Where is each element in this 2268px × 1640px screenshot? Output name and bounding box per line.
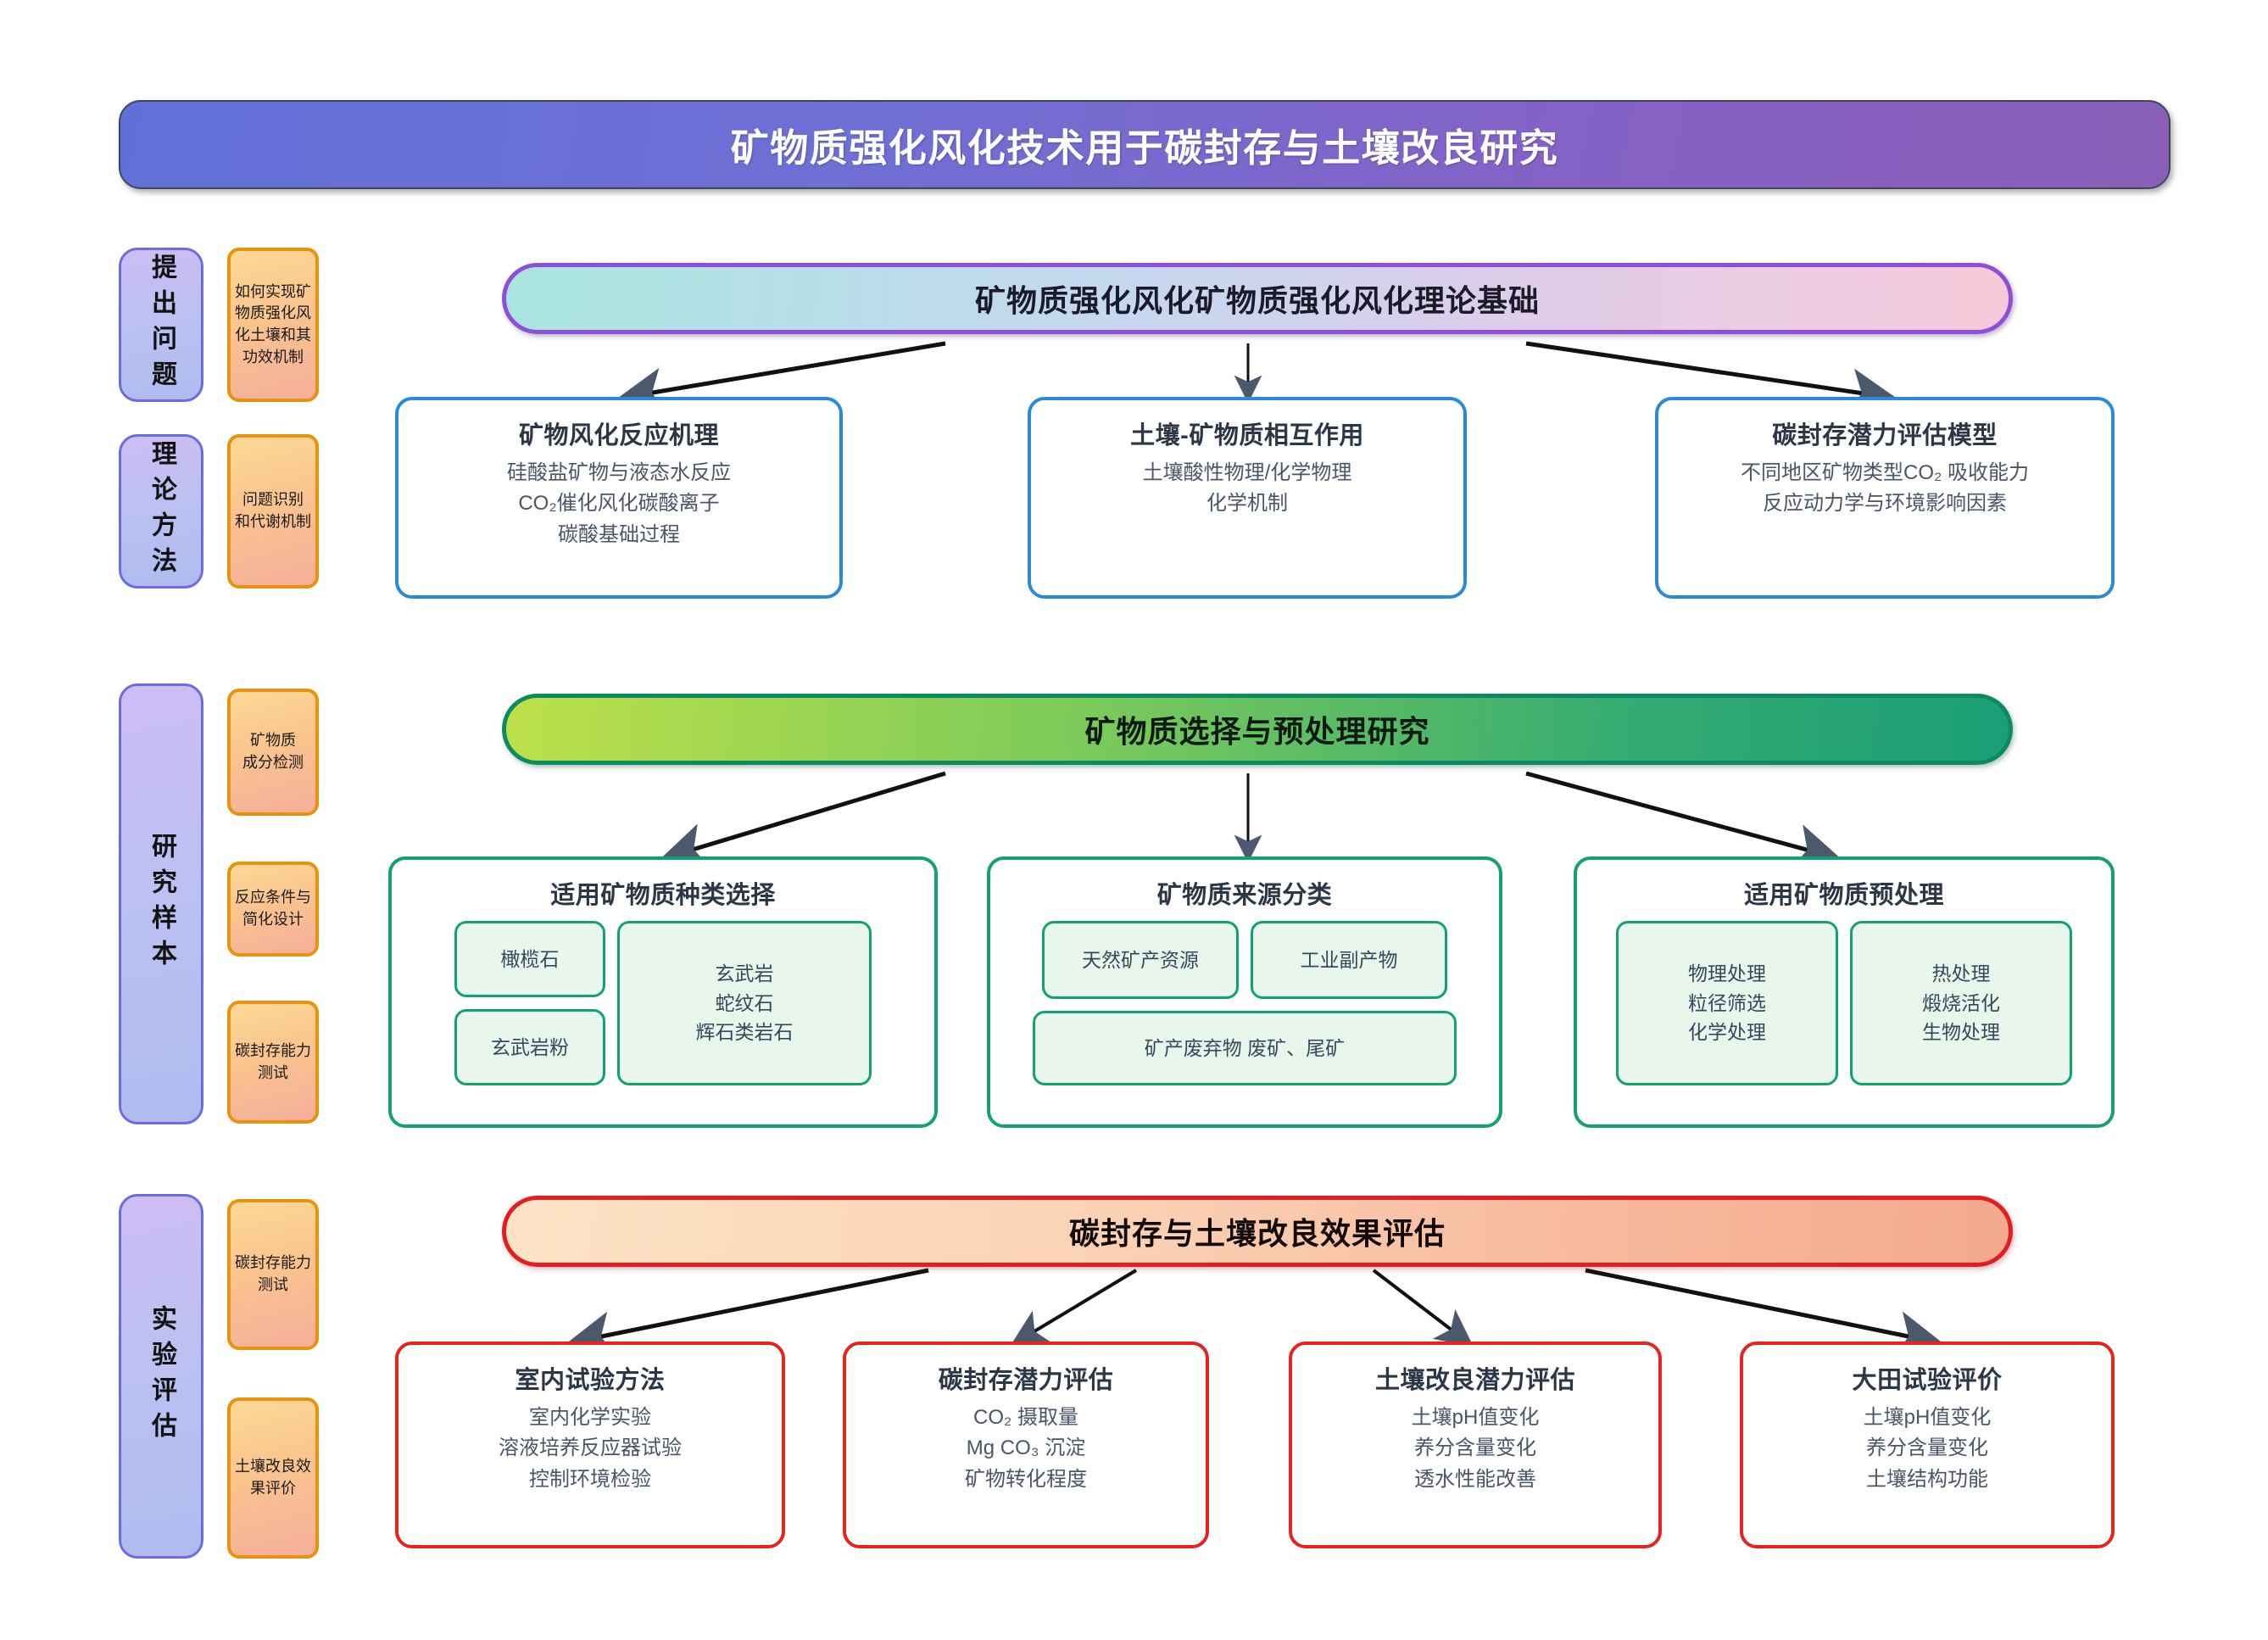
text-line: 如何实现矿 <box>235 282 311 304</box>
leaf-lines: 土壤pH值变化养分含量变化透水性能改善 <box>1412 1403 1540 1495</box>
text-line: 硅酸盐矿物与液态水反应 <box>507 458 731 488</box>
stage-pill-propose[interactable]: 提出问题 <box>119 248 203 402</box>
note-card-5[interactable]: 碳封存能力测试 <box>227 1001 319 1124</box>
chip-line: 粒径筛选 <box>1688 989 1766 1018</box>
chip-line: 煅烧活化 <box>1922 989 2000 1018</box>
chip-mining-waste[interactable]: 矿产废弃物 废矿、尾矿 <box>1033 1011 1457 1085</box>
chip-line: 蛇纹石 <box>716 989 774 1018</box>
text-line: 功效机制 <box>235 347 311 369</box>
leaf-mineral-source-classification[interactable]: 矿物质来源分类 天然矿产资源 工业副产物 矿产废弃物 废矿、尾矿 <box>987 856 1502 1128</box>
note-text: 碳封存能力测试 <box>235 1040 311 1084</box>
text-line: 测试 <box>235 1063 311 1085</box>
text-line: 物质强化风 <box>235 303 311 325</box>
text-line: 果评价 <box>235 1478 311 1500</box>
leaf-title: 碳封存潜力评估 <box>939 1360 1114 1396</box>
chip-line: 辉石类岩石 <box>696 1018 794 1047</box>
text-line: 土壤改良效 <box>235 1456 311 1478</box>
chip-rock-types[interactable]: 玄武岩 蛇纹石 辉石类岩石 <box>617 921 872 1085</box>
banner-label: 碳封存与土壤改良效果评估 <box>1069 1209 1446 1253</box>
banner-evaluation[interactable]: 碳封存与土壤改良效果评估 <box>502 1196 2013 1267</box>
page-title-text: 矿物质强化风化技术用于碳封存与土壤改良研究 <box>731 117 1559 172</box>
leaf-lines: CO₂ 摄取量Mg CO₃ 沉淀矿物转化程度 <box>965 1403 1087 1495</box>
chip-olivine[interactable]: 橄榄石 <box>454 921 605 997</box>
stage-label: 实验评估 <box>148 1305 174 1448</box>
text-line: 土壤pH值变化 <box>1864 1403 1992 1433</box>
leaf-mineral-pretreatment[interactable]: 适用矿物质预处理 物理处理 粒径筛选 化学处理 热处理 煅烧活化 生物处理 <box>1574 856 2115 1128</box>
note-card-6[interactable]: 碳封存能力测试 <box>227 1199 319 1350</box>
text-line: 化土壤和其 <box>235 325 311 347</box>
note-card-3[interactable]: 矿物质成分检测 <box>227 689 319 816</box>
note-card-1[interactable]: 如何实现矿物质强化风化土壤和其功效机制 <box>227 248 319 402</box>
text-line: 矿物质 <box>242 730 304 752</box>
text-line: 碳封存能力 <box>235 1040 311 1063</box>
text-line: Mg CO₃ 沉淀 <box>965 1433 1087 1464</box>
stage-label: 研究样本 <box>148 833 174 975</box>
note-text: 土壤改良效果评价 <box>235 1456 311 1499</box>
text-line: 和代谢机制 <box>235 511 311 533</box>
chip-line: 生物处理 <box>1922 1018 2000 1047</box>
text-line: 养分含量变化 <box>1864 1433 1992 1464</box>
text-line: CO₂催化风化碳酸离子 <box>507 488 731 519</box>
text-line: 透水性能改善 <box>1412 1464 1540 1495</box>
text-line: 问题识别 <box>235 489 311 511</box>
text-line: 土壤pH值变化 <box>1412 1403 1540 1433</box>
chip-line: 天然矿产资源 <box>1082 946 1199 975</box>
leaf-lines: 土壤pH值变化养分含量变化土壤结构功能 <box>1864 1403 1992 1495</box>
chip-line: 化学处理 <box>1688 1018 1766 1047</box>
chip-container: 物理处理 粒径筛选 化学处理 热处理 煅烧活化 生物处理 <box>1589 921 2099 1085</box>
leaf-title: 适用矿物质预处理 <box>1744 875 1944 911</box>
stage-label: 提出问题 <box>148 254 174 396</box>
leaf-mineral-weathering-mechanism[interactable]: 矿物风化反应机理 硅酸盐矿物与液态水反应CO₂催化风化碳酸离子碳酸基础过程 <box>395 397 843 599</box>
text-line: CO₂ 摄取量 <box>965 1403 1087 1433</box>
note-text: 矿物质成分检测 <box>242 730 304 773</box>
note-text: 反应条件与简化设计 <box>235 887 311 930</box>
text-line: 反应动力学与环境影响因素 <box>1741 488 2029 519</box>
note-card-7[interactable]: 土壤改良效果评价 <box>227 1397 319 1559</box>
leaf-title: 土壤-矿物质相互作用 <box>1130 416 1364 451</box>
chip-column-left: 橄榄石 玄武岩粉 <box>454 921 605 1085</box>
leaf-soil-improvement-potential[interactable]: 土壤改良潜力评估 土壤pH值变化养分含量变化透水性能改善 <box>1289 1342 1662 1548</box>
leaf-field-trial-evaluation[interactable]: 大田试验评价 土壤pH值变化养分含量变化土壤结构功能 <box>1740 1342 2115 1548</box>
leaf-lines: 不同地区矿物类型CO₂ 吸收能力反应动力学与环境影响因素 <box>1741 458 2029 520</box>
text-line: 溶液培养反应器试验 <box>499 1433 682 1464</box>
chip-industrial-byproduct[interactable]: 工业副产物 <box>1251 921 1447 999</box>
note-card-4[interactable]: 反应条件与简化设计 <box>227 862 319 957</box>
leaf-carbon-storage-model[interactable]: 碳封存潜力评估模型 不同地区矿物类型CO₂ 吸收能力反应动力学与环境影响因素 <box>1655 397 2115 599</box>
text-line: 土壤酸性物理/化学物理 <box>1143 458 1352 488</box>
banner-theory[interactable]: 矿物质强化风化矿物质强化风化理论基础 <box>502 263 2013 334</box>
stage-pill-experiment[interactable]: 实验评估 <box>119 1194 203 1559</box>
leaf-soil-mineral-interaction[interactable]: 土壤-矿物质相互作用 土壤酸性物理/化学物理化学机制 <box>1028 397 1467 599</box>
leaf-lab-test-method[interactable]: 室内试验方法 室内化学实验溶液培养反应器试验控制环境检验 <box>395 1342 785 1548</box>
text-line: 室内化学实验 <box>499 1403 682 1433</box>
note-text: 碳封存能力测试 <box>235 1252 311 1296</box>
text-line: 测试 <box>235 1275 311 1297</box>
diagram-canvas: 矿物质强化风化技术用于碳封存与土壤改良研究 提出问题 理论方法 研究样本 实验评… <box>0 0 2268 1640</box>
leaf-lines: 室内化学实验溶液培养反应器试验控制环境检验 <box>499 1403 682 1495</box>
text-line: 化学机制 <box>1143 488 1352 519</box>
note-text: 问题识别和代谢机制 <box>235 489 311 533</box>
page-title: 矿物质强化风化技术用于碳封存与土壤改良研究 <box>119 100 2170 189</box>
chip-line: 物理处理 <box>1688 959 1766 989</box>
leaf-title: 室内试验方法 <box>515 1360 665 1396</box>
note-card-2[interactable]: 问题识别和代谢机制 <box>227 434 319 589</box>
text-line: 碳酸基础过程 <box>507 520 731 550</box>
text-line: 不同地区矿物类型CO₂ 吸收能力 <box>1741 458 2029 488</box>
chip-line: 工业副产物 <box>1301 946 1398 975</box>
chip-physical-treatment[interactable]: 物理处理 粒径筛选 化学处理 <box>1616 921 1838 1085</box>
note-text: 如何实现矿物质强化风化土壤和其功效机制 <box>235 282 311 368</box>
leaf-lines: 土壤酸性物理/化学物理化学机制 <box>1143 458 1352 520</box>
leaf-title: 适用矿物质种类选择 <box>550 875 776 911</box>
chip-natural-resources[interactable]: 天然矿产资源 <box>1042 921 1239 999</box>
leaf-lines: 硅酸盐矿物与液态水反应CO₂催化风化碳酸离子碳酸基础过程 <box>507 458 731 550</box>
text-line: 成分检测 <box>242 752 304 774</box>
chip-container: 橄榄石 玄武岩粉 玄武岩 蛇纹石 辉石类岩石 <box>404 921 922 1085</box>
chip-line: 矿产废弃物 废矿、尾矿 <box>1145 1034 1345 1063</box>
chip-line: 热处理 <box>1932 959 1991 989</box>
leaf-carbon-storage-potential[interactable]: 碳封存潜力评估 CO₂ 摄取量Mg CO₃ 沉淀矿物转化程度 <box>843 1342 1209 1548</box>
leaf-title: 矿物质来源分类 <box>1157 875 1333 911</box>
stage-pill-theory[interactable]: 理论方法 <box>119 434 203 589</box>
leaf-mineral-type-selection[interactable]: 适用矿物质种类选择 橄榄石 玄武岩粉 玄武岩 蛇纹石 辉石类岩石 <box>388 856 938 1128</box>
leaf-title: 矿物风化反应机理 <box>519 416 719 451</box>
text-line: 养分含量变化 <box>1412 1433 1540 1464</box>
chip-line: 玄武岩粉 <box>491 1033 569 1063</box>
leaf-title: 碳封存潜力评估模型 <box>1772 416 1998 451</box>
chip-container: 天然矿产资源 工业副产物 矿产废弃物 废矿、尾矿 <box>1002 921 1487 1085</box>
text-line: 矿物转化程度 <box>965 1464 1087 1495</box>
banner-label: 矿物质选择与预处理研究 <box>1084 707 1429 751</box>
leaf-title: 土壤改良潜力评估 <box>1375 1360 1575 1396</box>
text-line: 碳封存能力 <box>235 1252 311 1275</box>
text-line: 土壤结构功能 <box>1864 1464 1992 1495</box>
chip-line: 橄榄石 <box>501 945 560 974</box>
stage-label: 理论方法 <box>148 440 174 583</box>
stage-pill-sample[interactable]: 研究样本 <box>119 683 203 1124</box>
chip-basalt-powder[interactable]: 玄武岩粉 <box>454 1009 605 1085</box>
chip-thermal-treatment[interactable]: 热处理 煅烧活化 生物处理 <box>1850 921 2072 1085</box>
text-line: 简化设计 <box>235 909 311 931</box>
text-line: 反应条件与 <box>235 887 311 909</box>
banner-label: 矿物质强化风化矿物质强化风化理论基础 <box>975 276 1540 321</box>
leaf-title: 大田试验评价 <box>1852 1360 2002 1396</box>
banner-mineral-selection[interactable]: 矿物质选择与预处理研究 <box>502 694 2013 765</box>
chip-line: 玄武岩 <box>716 959 774 989</box>
text-line: 控制环境检验 <box>499 1464 682 1495</box>
